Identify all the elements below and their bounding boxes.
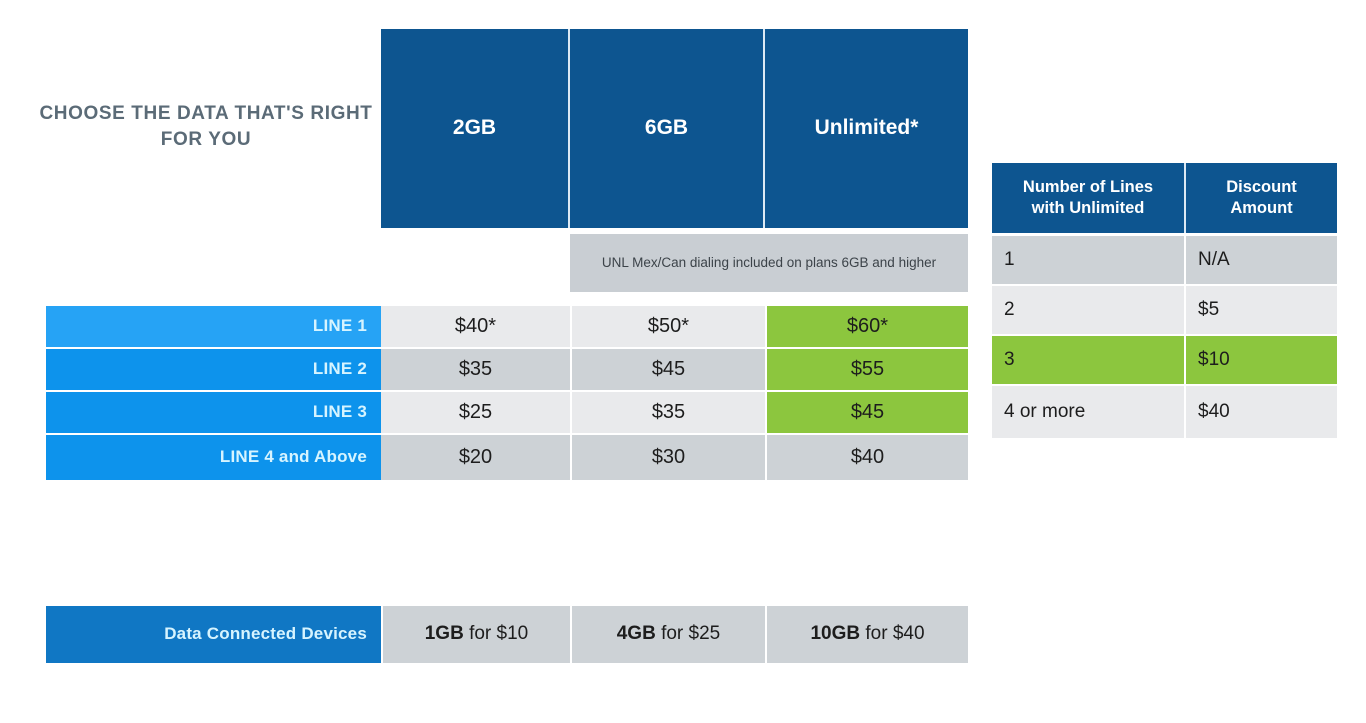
discount-lines-value: 3 (1004, 349, 1015, 371)
note-text: UNL Mex/Can dialing included on plans 6G… (602, 255, 936, 271)
discount-amount-value: $5 (1198, 299, 1219, 321)
row-label-text: LINE 4 and Above (220, 447, 367, 467)
price-line1-6gb: $50* (572, 306, 765, 347)
discount-lines-value: 1 (1004, 249, 1015, 271)
dcd-amount: 1GB (425, 623, 464, 644)
row-label-text: LINE 1 (313, 316, 367, 336)
column-separator (570, 306, 572, 480)
plan-header-label: Unlimited* (815, 116, 919, 141)
dcd-rest: for $25 (656, 623, 720, 644)
row-label-text: LINE 3 (313, 402, 367, 422)
discount-row-lines: 2 (992, 286, 1186, 334)
price-line1-2gb: $40* (381, 306, 570, 347)
price-value: $50* (648, 315, 689, 339)
discount-amount-value: $10 (1198, 349, 1230, 371)
price-line2-unlimited: $55 (767, 349, 968, 390)
discount-row-amount: $40 (1186, 386, 1337, 438)
price-line1-unlimited: $60* (767, 306, 968, 347)
price-value: $45 (851, 401, 884, 425)
page-title: CHOOSE THE DATA THAT'S RIGHT FOR YOU (36, 92, 376, 162)
row-label-line-4-and-above: LINE 4 and Above (46, 435, 381, 480)
price-value: $40* (455, 315, 496, 339)
price-line3-unlimited: $45 (767, 392, 968, 433)
dcd-rest: for $40 (860, 623, 924, 644)
price-line3-2gb: $25 (381, 392, 570, 433)
discount-header-line-2: with Unlimited (1032, 198, 1145, 219)
dcd-amount: 4GB (617, 623, 656, 644)
price-value: $25 (459, 401, 492, 425)
plan-header-unlimited: Unlimited* (765, 29, 968, 228)
row-label-line-2: LINE 2 (46, 349, 381, 390)
price-value: $20 (459, 446, 492, 470)
price-value: $55 (851, 358, 884, 382)
discount-header-line-1: Discount (1226, 177, 1297, 198)
dcd-amount: 10GB (810, 623, 860, 644)
discount-header-amount: Discount Amount (1186, 163, 1337, 233)
row-label-text: Data Connected Devices (164, 624, 367, 644)
plan-header-label: 6GB (645, 116, 688, 141)
discount-header-number-of-lines: Number of Lines with Unlimited (992, 163, 1186, 233)
price-value: $35 (459, 358, 492, 382)
price-value: $35 (652, 401, 685, 425)
pricing-infographic: CHOOSE THE DATA THAT'S RIGHT FOR YOU 2GB… (0, 0, 1366, 723)
discount-row-lines: 1 (992, 236, 1186, 284)
discount-row-amount: $5 (1186, 286, 1337, 334)
dcd-price-6gb: 4GB for $25 (572, 606, 765, 663)
plan-header-6gb: 6GB (570, 29, 765, 228)
discount-header-line-2: Amount (1230, 198, 1292, 219)
price-line4-unlimited: $40 (767, 435, 968, 480)
mex-can-dialing-note: UNL Mex/Can dialing included on plans 6G… (570, 234, 968, 292)
discount-amount-value: $40 (1198, 401, 1230, 423)
discount-row-amount: N/A (1186, 236, 1337, 284)
dcd-price-unlimited: 10GB for $40 (767, 606, 968, 663)
price-value: $30 (652, 446, 685, 470)
price-line3-6gb: $35 (572, 392, 765, 433)
discount-amount-value: N/A (1198, 249, 1230, 271)
row-label-line-1: LINE 1 (46, 306, 381, 347)
row-label-text: LINE 2 (313, 359, 367, 379)
discount-lines-value: 2 (1004, 299, 1015, 321)
dcd-price-2gb: 1GB for $10 (383, 606, 570, 663)
price-line2-6gb: $45 (572, 349, 765, 390)
column-separator (765, 306, 767, 480)
discount-row-lines: 4 or more (992, 386, 1186, 438)
discount-header-line-1: Number of Lines (1023, 177, 1153, 198)
discount-lines-value: 4 or more (1004, 401, 1085, 423)
price-line4-6gb: $30 (572, 435, 765, 480)
price-value: $40 (851, 446, 884, 470)
price-value: $45 (652, 358, 685, 382)
dcd-rest: for $10 (464, 623, 528, 644)
row-label-data-connected-devices: Data Connected Devices (46, 606, 381, 663)
discount-row-amount-highlighted: $10 (1186, 336, 1337, 384)
plan-header-label: 2GB (453, 116, 496, 141)
price-line4-2gb: $20 (381, 435, 570, 480)
price-value: $60* (847, 315, 888, 339)
price-line2-2gb: $35 (381, 349, 570, 390)
row-label-line-3: LINE 3 (46, 392, 381, 433)
plan-header-2gb: 2GB (381, 29, 570, 228)
discount-row-lines-highlighted: 3 (992, 336, 1186, 384)
